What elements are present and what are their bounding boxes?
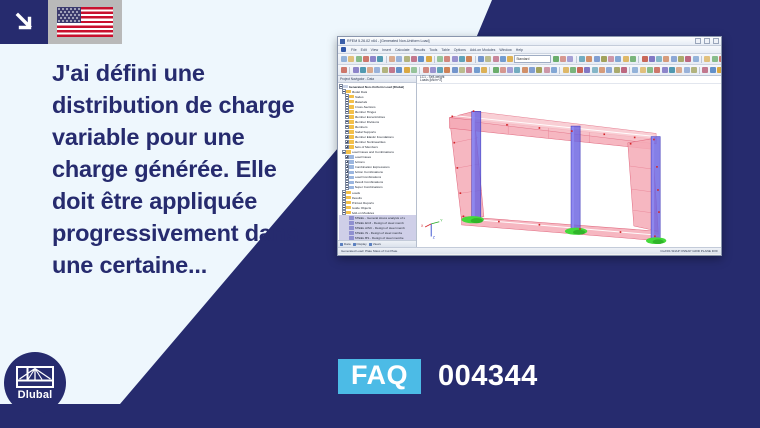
tree-item-label: Combination Expressions <box>355 165 390 169</box>
status-bar: Generated Load: Plate Mass of Cut Plate … <box>338 247 721 254</box>
tree-item-label: Printout Reports <box>352 201 374 205</box>
language-bar <box>0 0 122 44</box>
tree-item-label: Member Nonlinearities <box>355 140 386 144</box>
tree-item-icon <box>346 206 351 210</box>
expand-plus-icon[interactable] <box>345 145 349 150</box>
menu-item-table[interactable]: Table <box>441 48 449 52</box>
toolbar-icon[interactable] <box>529 67 535 73</box>
faq-tag-label: FAQ <box>338 359 421 394</box>
toolbar-icon[interactable] <box>452 67 458 73</box>
menu-item-window[interactable]: Window <box>499 48 511 52</box>
close-button[interactable] <box>713 38 719 44</box>
navigator-tab-views[interactable]: Views <box>369 242 381 246</box>
toolbar-icon[interactable] <box>389 67 395 73</box>
tree-item-icon <box>349 95 354 99</box>
tree-item-label: Sets of Members <box>355 145 378 149</box>
toolbar-icon[interactable] <box>444 67 450 73</box>
tree-item-label: Generated Non-Uniform Load [Dlubal] <box>349 85 405 89</box>
expand-plus-icon[interactable] <box>345 115 349 120</box>
expand-plus-icon[interactable] <box>345 99 349 104</box>
toolbar-icon[interactable] <box>466 56 472 62</box>
toolbar-icon[interactable] <box>579 56 585 62</box>
toolbar-icon[interactable] <box>382 67 388 73</box>
tree-item-label: Member Hinges <box>355 110 377 114</box>
navigator-tab-data[interactable]: Data <box>340 242 351 246</box>
toolbar-icon[interactable] <box>560 56 566 62</box>
toolbar-separator <box>419 67 420 74</box>
expand-plus-icon[interactable] <box>345 94 349 99</box>
toolbar-icon[interactable] <box>551 67 557 73</box>
toolbar-icon[interactable] <box>370 56 376 62</box>
minimize-button[interactable] <box>695 38 701 44</box>
expand-plus-icon[interactable] <box>345 155 349 160</box>
toolbar-icon[interactable] <box>570 67 576 73</box>
toolbar-icon[interactable] <box>642 56 648 62</box>
tree-item-icon <box>349 100 354 104</box>
toolbar-icon[interactable] <box>623 56 629 62</box>
work-area: Project Navigator - Data Generated Non-U… <box>338 76 721 247</box>
menu-item-addon-modules[interactable]: Add-on Modules <box>470 48 496 52</box>
tree-item-label: Action Combinations <box>355 170 383 174</box>
expand-plus-icon[interactable] <box>345 165 349 170</box>
tree-item-label: Load Combinations <box>355 175 382 179</box>
toolbar-icon[interactable] <box>654 67 660 73</box>
toolbar-icon[interactable] <box>404 56 410 62</box>
menu-item-file[interactable]: File <box>351 48 357 52</box>
toolbar-icon[interactable] <box>685 56 691 62</box>
tree-item-label: Load Cases and Combinations <box>352 150 394 154</box>
navigator-tree[interactable]: Generated Non-Uniform Load [Dlubal]Model… <box>338 83 416 240</box>
toolbar-icon[interactable] <box>500 56 506 62</box>
toolbar-icon[interactable] <box>348 56 354 62</box>
navigator-tab-display[interactable]: Display <box>353 242 367 246</box>
tree-item-icon <box>349 110 354 114</box>
menu-item-insert[interactable]: Insert <box>382 48 391 52</box>
tree-item-label: Guide Objects <box>352 206 372 210</box>
toolbar-icon[interactable] <box>341 67 347 73</box>
toolbar-separator <box>638 56 639 63</box>
expand-plus-icon[interactable] <box>345 130 349 135</box>
expand-plus-icon[interactable] <box>345 140 349 145</box>
toolbar-icon[interactable] <box>614 67 620 73</box>
navigator-tabs[interactable]: Data Display Views <box>338 240 416 247</box>
tree-item-label: STEEL EC3 - Design of steel memb <box>355 221 404 225</box>
toolbar-icon[interactable] <box>459 56 465 62</box>
navigator-title: Project Navigator - Data <box>340 77 374 81</box>
tree-item-label: Member Elastic Foundations <box>355 135 394 139</box>
toolbar-icon[interactable] <box>649 56 655 62</box>
menu-item-help[interactable]: Help <box>516 48 523 52</box>
toolbar-icon[interactable] <box>702 67 708 73</box>
toolbar-icon[interactable] <box>712 56 718 62</box>
toolbar-icon[interactable] <box>481 67 487 73</box>
collapse-minus-icon[interactable] <box>342 210 346 215</box>
tree-item-icon <box>343 85 348 89</box>
expand-plus-icon[interactable] <box>345 180 349 185</box>
navigator-tree-item[interactable]: STEEL - General stress analysis of s <box>339 215 416 220</box>
tree-item-label: Loads <box>352 191 360 195</box>
tree-item-icon <box>349 186 354 190</box>
toolbar-icon[interactable] <box>430 67 436 73</box>
model-viewport[interactable]: LC1 - Self-weight Loads [kN/m^2] <box>417 76 721 247</box>
toolbar-icon[interactable] <box>363 56 369 62</box>
dlubal-wordmark: Dlubal <box>18 390 53 401</box>
faq-number: 004344 <box>438 362 538 391</box>
faq-slide: J'ai défini une distribution de charge v… <box>0 0 760 428</box>
toolbar-icon[interactable] <box>452 56 458 62</box>
rfem-application-window: RFEM 5.26.02 x64 - [Generated Non-Unifor… <box>337 36 722 256</box>
expand-plus-icon[interactable] <box>345 109 349 114</box>
status-text-right: CLASS SNAP OSNAP GRID PLANE DXF <box>660 249 718 253</box>
expand-plus-icon[interactable] <box>345 175 349 180</box>
toolbar-icon[interactable] <box>615 56 621 62</box>
toolbar-icon[interactable] <box>356 56 362 62</box>
toolbar-icon[interactable] <box>466 67 472 73</box>
expand-plus-icon[interactable] <box>345 170 349 175</box>
viewport-subtitle: Loads [kN/m^2] <box>420 79 721 82</box>
tree-item-label: Member Eccentricities <box>355 115 385 119</box>
menu-item-calculate[interactable]: Calculate <box>395 48 410 52</box>
tree-item-icon <box>349 155 354 159</box>
model-canvas[interactable]: Z Y X <box>417 84 721 247</box>
tree-item-label: Member Divisions <box>355 120 380 124</box>
toolbar-icon[interactable] <box>621 67 627 73</box>
toolbar-icon[interactable] <box>567 56 573 62</box>
menu-item-tools[interactable]: Tools <box>429 48 437 52</box>
tree-item-label: STEEL AISC - Design of steel memb <box>355 226 405 230</box>
tree-item-icon <box>346 191 351 195</box>
toolbar-separator <box>349 67 350 74</box>
toolbar-icon[interactable] <box>656 56 662 62</box>
tree-item-icon <box>349 140 354 144</box>
tree-item-icon <box>346 196 351 200</box>
toolbar-separator <box>386 56 387 63</box>
collapse-minus-icon[interactable] <box>339 84 343 89</box>
tree-item-icon <box>349 160 354 164</box>
toolbar-icon[interactable] <box>577 67 583 73</box>
toolbar-separator <box>434 56 435 63</box>
tree-item-icon <box>346 201 351 205</box>
toolbar-icon[interactable] <box>360 67 366 73</box>
tree-item-label: STEEL IS - Design of steel membe <box>355 231 403 235</box>
tree-item-icon <box>349 176 354 180</box>
toolbar-separator <box>559 67 560 74</box>
toolbar-icon[interactable] <box>584 67 590 73</box>
window-controls[interactable] <box>695 38 719 44</box>
toolbar-icon[interactable] <box>671 56 677 62</box>
tree-item-label: Result Combinations <box>355 180 384 184</box>
toolbar-icon[interactable] <box>553 56 559 62</box>
toolbar-icon[interactable] <box>704 56 710 62</box>
toolbar-icon[interactable] <box>374 67 380 73</box>
tree-item-label: Results <box>352 196 362 200</box>
expand-plus-icon[interactable] <box>342 195 346 200</box>
tree-item-label: Model Data <box>352 90 368 94</box>
menu-item-options[interactable]: Options <box>454 48 466 52</box>
toolbar-icon[interactable] <box>396 56 402 62</box>
navigator-tree-item[interactable]: STEEL AISC - Design of steel memb <box>339 225 416 230</box>
navigator-header: Project Navigator - Data <box>338 76 416 83</box>
menu-bar[interactable]: File Edit View Insert Calculate Results … <box>338 46 721 54</box>
collapse-minus-icon[interactable] <box>342 150 346 155</box>
expand-plus-icon[interactable] <box>345 135 349 140</box>
expand-plus-icon[interactable] <box>342 200 346 205</box>
tree-item-label: Members <box>355 125 368 129</box>
toolbar-icon[interactable] <box>389 56 395 62</box>
toolbar-icon[interactable] <box>522 67 528 73</box>
toolbar-icon[interactable] <box>396 67 402 73</box>
toolbar-icon[interactable] <box>601 56 607 62</box>
tree-item-label: Nodes <box>355 95 364 99</box>
toolbar-icon[interactable] <box>377 56 383 62</box>
toolbar-icon[interactable] <box>507 56 513 62</box>
toolbar-icon[interactable] <box>608 56 614 62</box>
toolbar-icon[interactable] <box>437 56 443 62</box>
tree-item-icon <box>349 125 354 129</box>
toolbar-icon[interactable] <box>606 67 612 73</box>
toolbar-row-1[interactable]: Standard <box>338 54 721 65</box>
faq-badge: FAQ 004344 <box>338 359 538 394</box>
tree-item-label: STEEL - General stress analysis of s <box>355 216 405 220</box>
toolbar-separator <box>699 67 700 74</box>
toolbar-icon[interactable] <box>669 67 675 73</box>
toolbar-icon[interactable] <box>485 56 491 62</box>
menu-item-view[interactable]: View <box>371 48 379 52</box>
toolbar-style-combo[interactable]: Standard <box>514 55 551 64</box>
app-icon <box>340 39 345 44</box>
toolbar-icon[interactable] <box>437 67 443 73</box>
expand-plus-icon[interactable] <box>342 190 346 195</box>
status-text-left: Generated Load: Plate Mass of Cut Plate <box>341 249 397 253</box>
axis-label-z: Z <box>433 236 436 240</box>
project-navigator[interactable]: Project Navigator - Data Generated Non-U… <box>338 76 417 247</box>
toolbar-icon[interactable] <box>404 67 410 73</box>
tree-item-icon <box>349 115 354 119</box>
menu-item-edit[interactable]: Edit <box>361 48 367 52</box>
toolbar-icon[interactable] <box>684 67 690 73</box>
toolbar-icon[interactable] <box>717 67 721 73</box>
toolbar-icon[interactable] <box>514 67 520 73</box>
language-flag-button[interactable] <box>48 0 122 44</box>
toolbar-icon[interactable] <box>411 56 417 62</box>
toolbar-icon[interactable] <box>493 56 499 62</box>
toolbar-icon[interactable] <box>341 56 347 62</box>
arrow-down-right-icon[interactable] <box>0 0 48 44</box>
tree-item-icon <box>349 120 354 124</box>
tree-item-icon <box>349 231 354 235</box>
tree-item-label: Add-on Modules <box>352 211 375 215</box>
tree-item-icon <box>349 216 354 220</box>
maximize-button[interactable] <box>704 38 710 44</box>
toolbar-icon[interactable] <box>418 56 424 62</box>
expand-plus-icon[interactable] <box>345 160 349 165</box>
toolbar-icon[interactable] <box>544 67 550 73</box>
tree-item-icon <box>349 221 354 225</box>
page-title: J'ai défini une distribution de charge v… <box>52 58 324 282</box>
toolbar-separator <box>475 56 476 63</box>
toolbar-icon[interactable] <box>353 67 359 73</box>
toolbar-icon[interactable] <box>411 67 417 73</box>
toolbar-icon[interactable] <box>719 56 721 62</box>
toolbar-row-2[interactable] <box>338 65 721 76</box>
tree-item-icon <box>349 135 354 139</box>
tree-item-icon <box>346 211 351 215</box>
usa-flag-icon <box>57 7 113 37</box>
viewport-tabs[interactable]: LC1 - Self-weight Loads [kN/m^2] <box>417 76 721 84</box>
tree-item-label: Load Cases <box>355 155 372 159</box>
toolbar-icon[interactable] <box>493 67 499 73</box>
toolbar-icon[interactable] <box>423 67 429 73</box>
toolbar-icon[interactable] <box>663 56 669 62</box>
tree-item-label: Actions <box>355 160 365 164</box>
toolbar-icon[interactable] <box>647 67 653 73</box>
expand-plus-icon[interactable] <box>345 104 349 109</box>
tree-item-icon <box>349 130 354 134</box>
expand-plus-icon[interactable] <box>345 125 349 130</box>
expand-plus-icon[interactable] <box>345 185 349 190</box>
toolbar-icon[interactable] <box>459 67 465 73</box>
toolbar-icon[interactable] <box>594 56 600 62</box>
toolbar-icon[interactable] <box>586 56 592 62</box>
tree-item-icon <box>349 226 354 230</box>
toolbar-icon[interactable] <box>630 56 636 62</box>
toolbar-icon[interactable] <box>536 67 542 73</box>
menu-item-results[interactable]: Results <box>414 48 426 52</box>
toolbar-icon[interactable] <box>632 67 638 73</box>
collapse-minus-icon[interactable] <box>342 89 346 94</box>
toolbar-icon[interactable] <box>592 67 598 73</box>
toolbar-icon[interactable] <box>691 67 697 73</box>
window-titlebar: RFEM 5.26.02 x64 - [Generated Non-Unifor… <box>338 37 721 46</box>
toolbar-icon[interactable] <box>507 67 513 73</box>
menu-app-icon <box>341 47 346 52</box>
toolbar-separator <box>701 56 702 63</box>
toolbar-separator <box>576 56 577 63</box>
tree-item-icon <box>346 150 351 154</box>
tree-item-label: Super Combinations <box>355 185 383 189</box>
expand-plus-icon[interactable] <box>345 120 349 125</box>
tree-item-icon <box>349 171 354 175</box>
tree-item-icon <box>349 165 354 169</box>
tree-item-label: Materials <box>355 100 368 104</box>
toolbar-icon[interactable] <box>693 56 699 62</box>
axis-label-y: Y <box>440 219 443 223</box>
toolbar-icon[interactable] <box>640 67 646 73</box>
toolbar-icon[interactable] <box>662 67 668 73</box>
toolbar-icon[interactable] <box>367 67 373 73</box>
toolbar-icon[interactable] <box>563 67 569 73</box>
toolbar-icon[interactable] <box>444 56 450 62</box>
dlubal-logo[interactable]: Dlubal <box>4 352 66 414</box>
expand-plus-icon[interactable] <box>342 205 346 210</box>
tree-item-icon <box>346 90 351 94</box>
toolbar-icon[interactable] <box>676 67 682 73</box>
tree-item-icon <box>349 105 354 109</box>
toolbar-icon[interactable] <box>678 56 684 62</box>
tree-item-label: Cross-Sections <box>355 105 376 109</box>
toolbar-icon[interactable] <box>710 67 716 73</box>
tree-item-icon <box>349 181 354 185</box>
toolbar-icon[interactable] <box>500 67 506 73</box>
toolbar-icon[interactable] <box>474 67 480 73</box>
toolbar-icon[interactable] <box>478 56 484 62</box>
tree-item-label: Nodal Supports <box>355 130 376 134</box>
toolbar-separator <box>489 67 490 74</box>
axis-label-x: X <box>421 224 424 228</box>
toolbar-icon[interactable] <box>426 56 432 62</box>
toolbar-separator <box>629 67 630 74</box>
tree-item-icon <box>349 145 354 149</box>
dlubal-frame-icon <box>16 366 54 388</box>
toolbar-icon[interactable] <box>599 67 605 73</box>
window-title: RFEM 5.26.02 x64 - [Generated Non-Unifor… <box>347 39 430 43</box>
